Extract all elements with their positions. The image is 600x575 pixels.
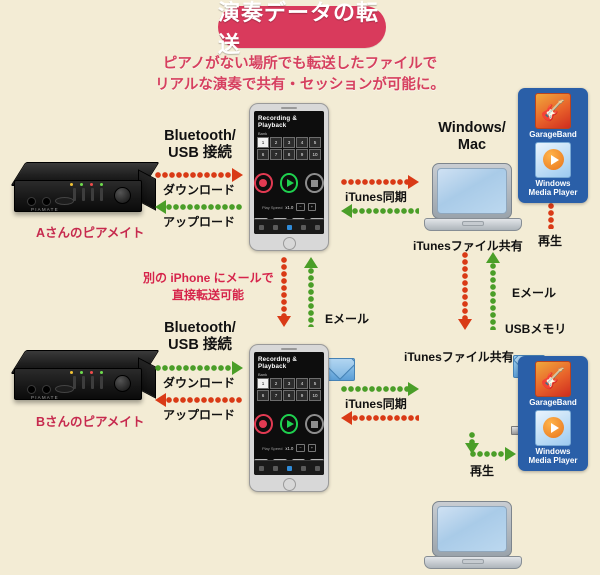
email-label-right: Eメール xyxy=(512,284,556,301)
phone-tab-bar[interactable] xyxy=(254,219,324,234)
bank-cell[interactable]: 5 xyxy=(309,137,321,148)
bank-cell[interactable]: 2 xyxy=(270,378,282,389)
garageband-label: GarageBand xyxy=(529,399,577,408)
download-arrow-bottom xyxy=(155,362,243,374)
tab-icon-5 xyxy=(315,225,320,230)
play-speed-value: x1.0 xyxy=(285,205,293,210)
laptop-screen xyxy=(437,168,507,214)
upload-arrow-top xyxy=(155,201,243,213)
bank-cell[interactable]: 10 xyxy=(309,149,321,160)
connection-label-top-line1: Bluetooth/ xyxy=(150,128,250,145)
device-brand: PIAMATE xyxy=(31,207,59,212)
bank-cell[interactable]: 4 xyxy=(296,137,308,148)
device-leds xyxy=(70,183,103,186)
bank-grid-row-2[interactable]: 6 7 8 9 10 xyxy=(254,390,324,401)
windows-media-player-icon[interactable] xyxy=(535,142,571,178)
infographic-canvas: 演奏データの転送 ピアノがない場所でも転送したファイルで リアルな演奏で共有・セ… xyxy=(0,0,600,497)
device-a-label: Aさんのピアメイト xyxy=(36,222,144,241)
subtitle-line-1: ピアノがない場所でも転送したファイルで xyxy=(0,54,600,75)
laptop-trackpad xyxy=(462,221,484,226)
download-label-top: ダウンロード xyxy=(163,181,235,198)
bank-cell[interactable]: 5 xyxy=(309,378,321,389)
tab-icon-4 xyxy=(301,466,306,471)
tab-icon-1 xyxy=(259,466,264,471)
app-panel-bottom: 🎸 GarageBand Windows Media Player xyxy=(518,356,588,471)
iphone-top[interactable]: Recording & Playback Bank 1 2 3 4 5 6 7 … xyxy=(249,103,329,251)
laptop-lid xyxy=(432,163,512,219)
download-arrow-top xyxy=(155,169,243,181)
device-jacks xyxy=(27,197,51,206)
tab-icon-active xyxy=(287,466,292,471)
device-leds xyxy=(70,371,103,374)
usb-label: USBメモリ xyxy=(505,320,566,337)
connection-label-top-line2: USB 接続 xyxy=(150,145,250,162)
laptop-lid xyxy=(432,501,512,557)
app-panel-top: 🎸 GarageBand Windows Media Player xyxy=(518,88,588,203)
playback-label-top: 再生 xyxy=(538,232,562,249)
bank-cell[interactable]: 8 xyxy=(283,390,295,401)
wmp-label: Windows Media Player xyxy=(529,180,578,198)
middle-up-arrow xyxy=(305,257,317,327)
connection-label-bottom: Bluetooth/ USB 接続 xyxy=(150,320,250,353)
speed-plus-button[interactable]: + xyxy=(308,203,316,211)
bank-cell[interactable]: 7 xyxy=(270,390,282,401)
bank-cell[interactable]: 3 xyxy=(283,378,295,389)
upload-label-bottom: アップロード xyxy=(163,406,235,423)
tab-icon-2 xyxy=(273,225,278,230)
bank-cell[interactable]: 6 xyxy=(257,390,269,401)
playback-label-bottom: 再生 xyxy=(470,462,494,479)
phone-home-button[interactable] xyxy=(283,237,296,250)
play-speed-label: Play Speed xyxy=(262,446,282,451)
bank-grid-row-1[interactable]: 1 2 3 4 5 xyxy=(254,137,324,148)
itunes-sync-out-arrow-top xyxy=(341,176,419,188)
phone-screen-bottom[interactable]: Recording & Playback Bank 1 2 3 4 5 6 7 … xyxy=(254,352,324,475)
direct-transfer-note-line1: 別の iPhone にメールで xyxy=(143,270,273,287)
piano-device-b: PIAMATE xyxy=(12,348,157,410)
itunes-sync-out-arrow-bottom xyxy=(341,383,419,395)
play-button-icon[interactable] xyxy=(280,414,299,434)
direct-transfer-note: 別の iPhone にメールで 直接転送可能 xyxy=(143,270,273,304)
device-knob xyxy=(114,187,131,204)
tab-icon-active xyxy=(287,225,292,230)
bank-cell[interactable]: 1 xyxy=(257,137,269,148)
garageband-label: GarageBand xyxy=(529,131,577,140)
speed-plus-button[interactable]: + xyxy=(308,444,316,452)
tab-icon-2 xyxy=(273,466,278,471)
device-b-label: Bさんのピアメイト xyxy=(36,411,144,430)
tab-icon-5 xyxy=(315,466,320,471)
laptop-bottom xyxy=(424,501,520,575)
speed-minus-button[interactable]: − xyxy=(296,444,304,452)
computer-label-top-line2: Mac xyxy=(428,137,516,154)
bank-cell[interactable]: 8 xyxy=(283,149,295,160)
play-button-icon[interactable] xyxy=(280,173,299,193)
bank-cell[interactable]: 9 xyxy=(296,390,308,401)
device-port-oval xyxy=(55,197,74,205)
garageband-icon[interactable]: 🎸 xyxy=(535,361,571,397)
wmp-label-line2: Media Player xyxy=(529,457,578,466)
laptop-trackpad xyxy=(462,559,484,564)
play-speed-row[interactable]: Play Speed x1.0 − + xyxy=(254,444,324,452)
middle-down-arrow xyxy=(278,257,290,327)
connection-label-bottom-line2: USB 接続 xyxy=(150,337,250,354)
device-jacks xyxy=(27,385,51,394)
device-port-oval xyxy=(55,385,74,393)
upload-arrow-bottom xyxy=(155,394,243,406)
laptop-top xyxy=(424,163,520,237)
transport-controls[interactable] xyxy=(254,173,324,193)
bank-cell[interactable]: 6 xyxy=(257,149,269,160)
bank-cell[interactable]: 3 xyxy=(283,137,295,148)
direct-transfer-note-line2: 直接転送可能 xyxy=(143,287,273,304)
device-body: PIAMATE xyxy=(14,368,142,400)
play-speed-label: Play Speed xyxy=(262,205,282,210)
windows-media-player-icon[interactable] xyxy=(535,410,571,446)
device-sliders xyxy=(73,188,103,201)
phone-tab-bar[interactable] xyxy=(254,460,324,475)
iphone-bottom[interactable]: Recording & Playback Bank 1 2 3 4 5 6 7 … xyxy=(249,344,329,492)
bank-grid-row-2[interactable]: 6 7 8 9 10 xyxy=(254,149,324,160)
phone-screen-top[interactable]: Recording & Playback Bank 1 2 3 4 5 6 7 … xyxy=(254,111,324,234)
play-speed-value: x1.0 xyxy=(285,446,293,451)
phone-earpiece xyxy=(281,107,297,109)
record-button-icon[interactable] xyxy=(254,414,273,434)
tab-icon-1 xyxy=(259,225,264,230)
bank-grid-row-1[interactable]: 1 2 3 4 5 xyxy=(254,378,324,389)
right-up-arrow xyxy=(487,252,499,330)
right-down-arrow xyxy=(459,252,471,330)
wmp-label: Windows Media Player xyxy=(529,448,578,466)
bank-label: Bank xyxy=(254,129,324,137)
page-title-pill: 演奏データの転送 xyxy=(218,6,386,48)
device-brand: PIAMATE xyxy=(31,395,59,400)
device-sliders xyxy=(73,376,103,389)
email-label-middle: Eメール xyxy=(325,310,369,327)
itunes-sync-label-bottom: iTunes同期 xyxy=(345,395,407,412)
speed-minus-button[interactable]: − xyxy=(296,203,304,211)
itunes-file-share-label-bottom: iTunesファイル共有 xyxy=(404,348,514,365)
bank-cell[interactable]: 10 xyxy=(309,390,321,401)
bank-cell[interactable]: 7 xyxy=(270,149,282,160)
app-screen-title: Recording & Playback xyxy=(254,352,324,370)
bank-cell[interactable]: 9 xyxy=(296,149,308,160)
device-body: PIAMATE xyxy=(14,180,142,212)
download-label-bottom: ダウンロード xyxy=(163,374,235,391)
tab-icon-4 xyxy=(301,225,306,230)
itunes-sync-in-arrow-top xyxy=(341,205,419,217)
page-subtitle: ピアノがない場所でも転送したファイルで リアルな演奏で共有・セッションが可能に。 xyxy=(0,54,600,96)
phone-earpiece xyxy=(281,348,297,350)
connection-label-bottom-line1: Bluetooth/ xyxy=(150,320,250,337)
playback-arrow-right-bottom xyxy=(470,448,516,460)
wmp-label-line2: Media Player xyxy=(529,189,578,198)
laptop-screen xyxy=(437,506,507,552)
subtitle-line-2: リアルな演奏で共有・セッションが可能に。 xyxy=(0,75,600,96)
device-knob xyxy=(114,375,131,392)
garageband-icon[interactable]: 🎸 xyxy=(535,93,571,129)
play-speed-row[interactable]: Play Speed x1.0 − + xyxy=(254,203,324,211)
stop-button-icon[interactable] xyxy=(305,173,324,193)
computer-label-top-line1: Windows/ xyxy=(428,120,516,137)
app-screen-title: Recording & Playback xyxy=(254,111,324,129)
bank-cell[interactable]: 1 xyxy=(257,378,269,389)
stop-button-icon[interactable] xyxy=(305,414,324,434)
itunes-sync-label-top: iTunes同期 xyxy=(345,188,407,205)
phone-home-button[interactable] xyxy=(283,478,296,491)
bank-label: Bank xyxy=(254,370,324,378)
record-button-icon[interactable] xyxy=(254,173,273,193)
piano-device-a: PIAMATE xyxy=(12,160,157,222)
connection-label-top: Bluetooth/ USB 接続 xyxy=(150,128,250,161)
upload-label-top: アップロード xyxy=(163,213,235,230)
transport-controls[interactable] xyxy=(254,414,324,434)
itunes-sync-in-arrow-bottom xyxy=(341,412,419,424)
bank-cell[interactable]: 2 xyxy=(270,137,282,148)
page-title: 演奏データの転送 xyxy=(218,0,386,59)
bank-cell[interactable]: 4 xyxy=(296,378,308,389)
computer-label-top: Windows/ Mac xyxy=(428,120,516,153)
